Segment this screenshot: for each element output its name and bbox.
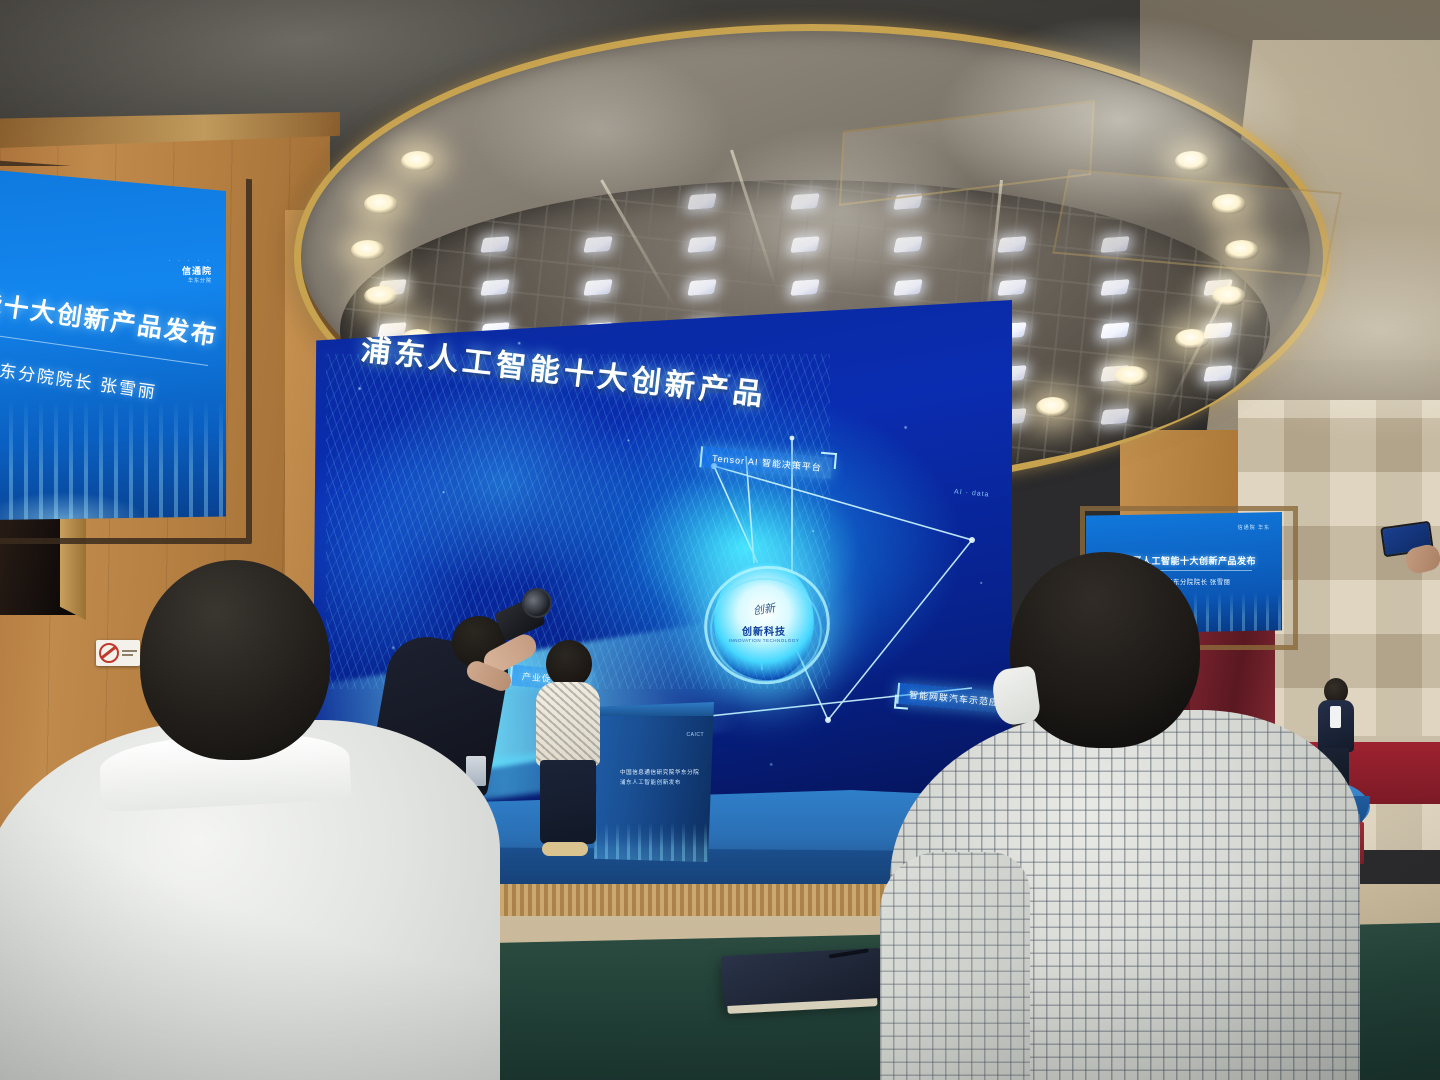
ceiling-panel-light	[687, 194, 717, 211]
logo-subtitle: 华东分院	[168, 277, 212, 284]
ceiling-panel-light	[1100, 322, 1130, 339]
ceiling-panel-light	[1100, 408, 1130, 425]
left-screen-subline: 华东分院院长 张雪丽	[0, 354, 159, 403]
podium-text-line1: 中国信息通信研究院华东分院	[620, 768, 699, 776]
notebook[interactable]	[721, 948, 884, 1008]
podium: CAICT 中国信息通信研究院华东分院 浦东人工智能创新发布	[594, 702, 714, 862]
ceiling-panel-light	[480, 236, 510, 253]
ceiling-panel-light	[790, 279, 820, 296]
podium-skyline-graphic	[594, 822, 714, 862]
ceiling-downlight	[364, 286, 398, 306]
right-screen-logo: 信通院 华东	[1238, 524, 1270, 531]
conference-hall-photo: · · · · · 信通院 华东分院 能十大创新产品发布 华东分院院长 张雪丽 …	[0, 0, 1440, 1080]
skyline-graphic	[0, 400, 226, 520]
ceiling-downlight	[364, 194, 398, 214]
ceiling-panel-light	[997, 236, 1027, 253]
screen-emblem: 创新 创新科技 INNOVATION TECHNOLOGY	[714, 562, 814, 682]
audience-man-checkered-shirt	[890, 552, 1370, 1080]
checkered-shirt-sleeve	[880, 852, 1030, 1080]
ceiling-panel-light	[790, 236, 820, 253]
ceiling-panel-light	[687, 279, 717, 296]
logo-wordmark: 信通院	[168, 264, 212, 277]
ceiling-downlight	[351, 240, 385, 260]
emblem-signature: 创新	[752, 600, 776, 619]
ceiling-panel-light	[1100, 279, 1130, 296]
ceiling-panel-light	[1203, 365, 1233, 382]
head-back-of-head	[140, 560, 330, 760]
ceiling-downlight	[1036, 397, 1070, 417]
face-mask	[990, 665, 1041, 727]
left-screen-logo: · · · · · 信通院 华东分院	[168, 258, 212, 284]
pen	[829, 948, 869, 958]
smartphone-recording[interactable]	[1382, 524, 1440, 604]
ceiling-downlight	[1225, 240, 1259, 260]
speaker-shoes	[542, 842, 588, 856]
ceiling-panel-light	[480, 279, 510, 296]
audience-man-white-shirt	[0, 560, 500, 1080]
podium-logo: CAICT	[687, 732, 705, 738]
speaker-head	[546, 640, 592, 688]
podium-text-line2: 浦东人工智能创新发布	[620, 778, 681, 786]
ceiling-panel-light	[997, 279, 1027, 296]
ceiling-panel-light	[687, 236, 717, 253]
left-led-screen: · · · · · 信通院 华东分院 能十大创新产品发布 华东分院院长 张雪丽	[0, 170, 226, 520]
head-back-of-head	[1010, 552, 1200, 748]
left-screen-headline: 能十大创新产品发布	[0, 283, 220, 352]
